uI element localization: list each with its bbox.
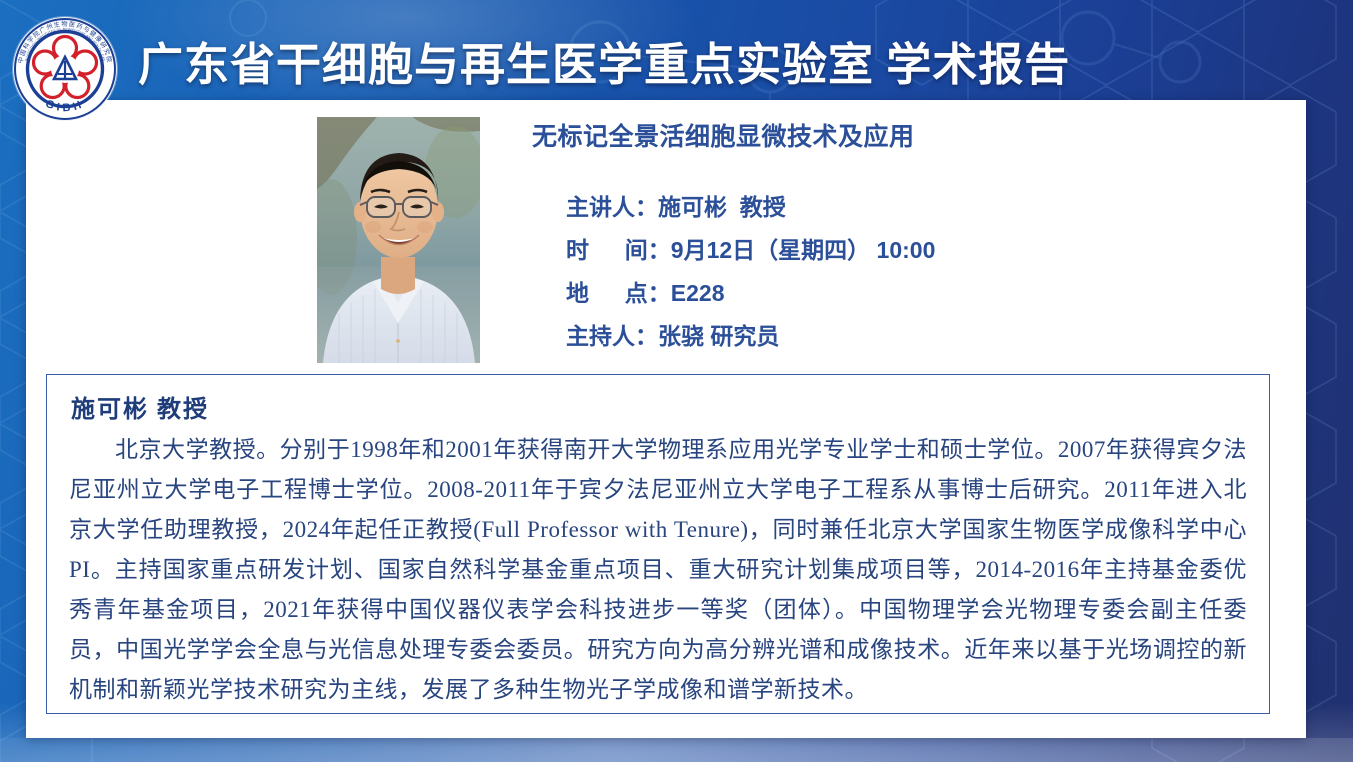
host-line: 主持人：张骁 研究员 — [532, 315, 1232, 358]
gibh-logo-icon: 中国科学院广州生物医药与健康研究院 GUANGZHOU INSTITUTES O… — [13, 17, 117, 121]
speaker-line: 主讲人：施可彬 教授 — [532, 186, 1232, 229]
seminar-poster: 中国科学院广州生物医药与健康研究院 GUANGZHOU INSTITUTES O… — [0, 0, 1353, 762]
talk-info: 无标记全景活细胞显微技术及应用 主讲人：施可彬 教授 时 间：9月12日（星期四… — [532, 120, 1232, 358]
page-title: 广东省干细胞与再生医学重点实验室 学术报告 — [138, 28, 1070, 93]
biography-box: 施可彬 教授 北京大学教授。分别于1998年和2001年获得南开大学物理系应用光… — [46, 374, 1270, 714]
speaker-portrait — [317, 117, 480, 363]
poster-header: 中国科学院广州生物医药与健康研究院 GUANGZHOU INSTITUTES O… — [0, 0, 1353, 104]
content-card: 无标记全景活细胞显微技术及应用 主讲人：施可彬 教授 时 间：9月12日（星期四… — [26, 100, 1306, 738]
time-line: 时 间：9月12日（星期四） 10:00 — [532, 229, 1232, 272]
bio-name: 施可彬 教授 — [71, 389, 1247, 424]
talk-title: 无标记全景活细胞显微技术及应用 — [532, 120, 1232, 154]
bottom-sheen — [0, 738, 1353, 762]
bio-text: 北京大学教授。分别于1998年和2001年获得南开大学物理系应用光学专业学士和硕… — [69, 430, 1247, 710]
place-line: 地 点：E228 — [532, 272, 1232, 315]
